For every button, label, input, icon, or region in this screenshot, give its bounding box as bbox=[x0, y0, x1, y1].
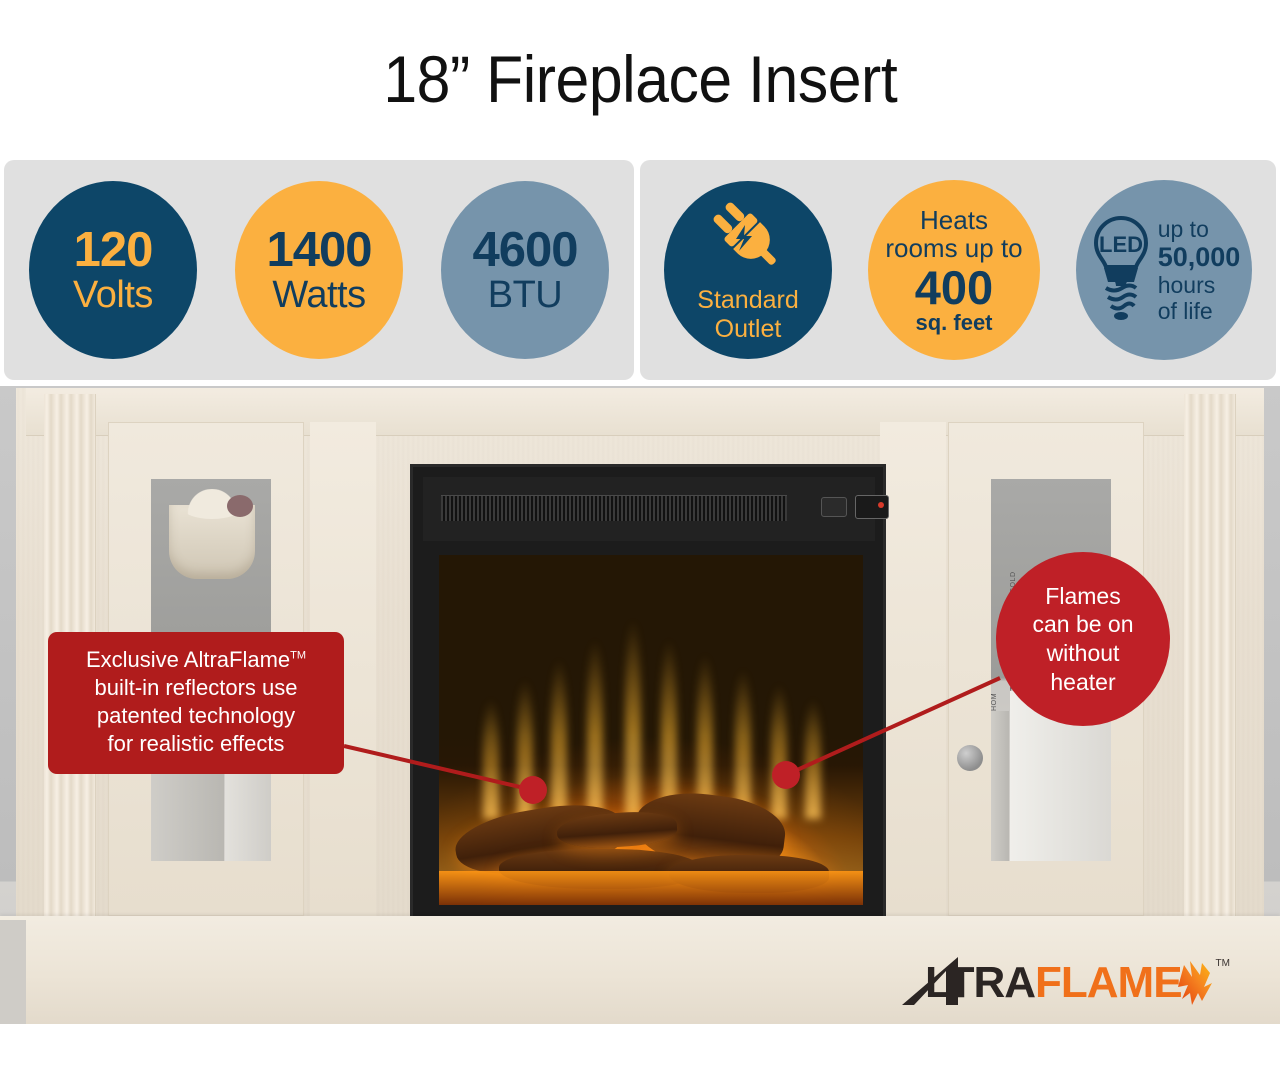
volts-value: 120 bbox=[74, 226, 153, 276]
led-line3: hours bbox=[1158, 272, 1216, 298]
btu-value: 4600 bbox=[472, 226, 577, 276]
callout-right-line4: heater bbox=[1050, 669, 1115, 695]
callout-left-tm: TM bbox=[290, 650, 306, 662]
btu-unit: BTU bbox=[488, 276, 563, 315]
header: 18” Fireplace Insert bbox=[0, 0, 1280, 158]
spec-badge-heats-rooms: Heats rooms up to 400 sq. feet bbox=[868, 180, 1040, 360]
outlet-label-line2: Outlet bbox=[715, 316, 782, 343]
watts-unit: Watts bbox=[272, 276, 365, 315]
spec-group-features: Standard Outlet Heats rooms up to 400 sq… bbox=[640, 160, 1276, 380]
power-switch[interactable] bbox=[855, 495, 889, 519]
flame-icon bbox=[1176, 955, 1216, 1011]
led-line4: of life bbox=[1158, 298, 1213, 324]
floor-left-edge bbox=[0, 920, 26, 1024]
callout-right-line2: can be on bbox=[1032, 611, 1133, 637]
heats-line1: Heats bbox=[920, 206, 988, 235]
spec-panel: 120 Volts 1400 Watts 4600 BTU bbox=[4, 160, 1276, 380]
cabinet-knob-right[interactable] bbox=[957, 745, 983, 771]
photo-bottom-margin bbox=[0, 1024, 1280, 1074]
firebox-flame-display bbox=[439, 555, 863, 905]
callout-flames-without-heater: Flames can be on without heater bbox=[996, 552, 1170, 726]
callout-left-line3: patented technology bbox=[97, 703, 295, 728]
led-life-text: up to 50,000 hours of life bbox=[1158, 216, 1241, 324]
led-line1: up to bbox=[1158, 216, 1209, 242]
brand-logo: LTRA FLAME TM bbox=[900, 946, 1230, 1020]
heater-vent-grille bbox=[441, 495, 787, 521]
spec-badge-standard-outlet: Standard Outlet bbox=[664, 181, 832, 359]
spec-badge-watts: 1400 Watts bbox=[235, 181, 403, 359]
book-spine: HOM bbox=[991, 693, 998, 711]
callout-left-line1: Exclusive AltraFlame bbox=[86, 647, 290, 672]
led-bulb-icon: LED bbox=[1088, 212, 1154, 328]
fireplace-insert bbox=[410, 464, 886, 921]
logo-a-triangle-icon bbox=[900, 955, 931, 1011]
svg-text:LED: LED bbox=[1099, 232, 1143, 257]
spec-badge-led-life: LED up to 50,000 hours of life bbox=[1076, 180, 1252, 360]
callout-right-line1: Flames bbox=[1045, 583, 1120, 609]
product-photo: TICE SHALL BE DO ARWINS TEOR THE STILETT… bbox=[0, 386, 1280, 1074]
heats-unit: sq. feet bbox=[915, 312, 992, 334]
spec-group-electrical: 120 Volts 1400 Watts 4600 BTU bbox=[4, 160, 634, 380]
page-title: 18” Fireplace Insert bbox=[383, 41, 897, 117]
logo-word-flame: FLAME bbox=[1035, 958, 1182, 1008]
fluted-column-right bbox=[1184, 394, 1236, 918]
heats-line2: rooms up to bbox=[885, 234, 1022, 263]
callout-left-line2: built-in reflectors use bbox=[95, 675, 298, 700]
callout-right-line3: without bbox=[1047, 640, 1120, 666]
plug-icon bbox=[705, 197, 791, 281]
control-dial[interactable] bbox=[821, 497, 847, 517]
heater-vent-housing bbox=[423, 477, 875, 541]
heats-value: 400 bbox=[915, 263, 993, 312]
callout-left-line4: for realistic effects bbox=[108, 731, 285, 756]
wicker-basket bbox=[169, 505, 255, 579]
volts-unit: Volts bbox=[73, 276, 153, 315]
led-line2: 50,000 bbox=[1158, 242, 1241, 273]
spec-badge-btu: 4600 BTU bbox=[441, 181, 609, 359]
watts-value: 1400 bbox=[266, 226, 371, 276]
callout-reflectors: Exclusive AltraFlameTM built-in reflecto… bbox=[48, 632, 344, 774]
outlet-label-line1: Standard bbox=[697, 287, 798, 314]
ember-bed bbox=[439, 871, 863, 905]
cabinet-pillar-right bbox=[880, 422, 946, 916]
spec-badge-volts: 120 Volts bbox=[29, 181, 197, 359]
